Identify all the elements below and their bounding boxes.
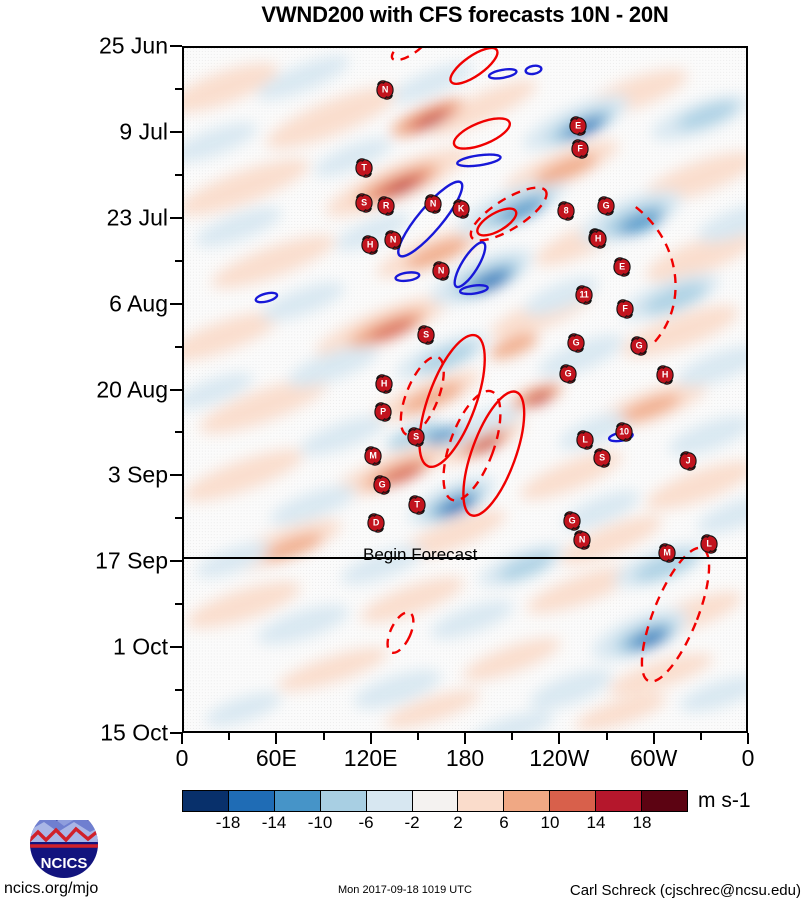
- storm-label: 8: [557, 201, 576, 222]
- storm-symbol: K: [452, 199, 471, 220]
- x-axis-label: 120E: [344, 745, 398, 772]
- colorbar-segment: [457, 791, 503, 811]
- y-axis-label: 15 Oct: [100, 720, 168, 747]
- y-axis-tick: [170, 217, 182, 219]
- y-axis-tick: [170, 389, 182, 391]
- colorbar-tick-label: -14: [262, 813, 287, 833]
- hovmoller-plot: Begin Forecast KelvinERMJOLowContours at…: [182, 46, 748, 733]
- storm-symbol: N: [432, 261, 451, 282]
- storm-symbol: S: [593, 448, 612, 469]
- y-axis-label: 1 Oct: [113, 634, 168, 661]
- storm-label: D: [367, 513, 386, 534]
- colorbar-tick-label: -2: [404, 813, 419, 833]
- storm-symbol: G: [559, 364, 578, 385]
- y-axis-minor-tick: [175, 260, 182, 262]
- storm-label: S: [355, 193, 374, 214]
- x-axis-tick: [370, 733, 372, 744]
- storm-label: P: [374, 402, 393, 423]
- storm-symbol: H: [361, 235, 380, 256]
- y-axis-minor-tick: [175, 431, 182, 433]
- ncics-logo: NCICS: [18, 820, 111, 878]
- x-axis-tick: [275, 733, 277, 744]
- colorbar-tick-label: -18: [216, 813, 241, 833]
- storm-label: 10: [615, 422, 634, 443]
- storm-symbol: E: [613, 257, 632, 278]
- storm-label: H: [656, 365, 675, 386]
- y-axis: 25 Jun9 Jul23 Jul6 Aug20 Aug3 Sep17 Sep1…: [0, 46, 182, 733]
- y-axis-minor-tick: [175, 174, 182, 176]
- storm-label: L: [700, 534, 719, 555]
- storm-symbol: 11: [575, 285, 594, 306]
- colorbar-group: -18-14-10-6-226101418 m s-1: [182, 790, 748, 816]
- x-axis-label: 60W: [630, 745, 677, 772]
- storm-label: S: [593, 448, 612, 469]
- author-credit: Carl Schreck (cjschrec@ncsu.edu): [570, 882, 801, 899]
- storm-symbol: J: [679, 451, 698, 472]
- storm-label: 11: [575, 285, 594, 306]
- y-axis-label: 17 Sep: [95, 548, 168, 575]
- storm-symbol: R: [377, 196, 396, 217]
- x-axis-label: 0: [742, 745, 755, 772]
- y-axis-minor-tick: [175, 88, 182, 90]
- storm-symbol: T: [408, 495, 427, 516]
- y-axis-tick: [170, 303, 182, 305]
- storm-label: H: [375, 374, 394, 395]
- x-axis-tick: [747, 733, 749, 744]
- storm-label: G: [373, 475, 392, 496]
- storm-symbol: H: [375, 374, 394, 395]
- storm-label: G: [597, 196, 616, 217]
- storm-symbol: H: [589, 229, 608, 250]
- storm-label: G: [563, 511, 582, 532]
- storm-label: F: [571, 139, 590, 160]
- storm-symbol: 10: [615, 422, 634, 443]
- storm-label: K: [452, 199, 471, 220]
- storm-label: E: [569, 116, 588, 137]
- x-axis-minor-tick: [606, 733, 608, 740]
- x-axis-label: 120W: [529, 745, 589, 772]
- colorbar-tick-label: 6: [499, 813, 508, 833]
- x-axis-tick: [464, 733, 466, 744]
- storm-symbol: G: [567, 333, 586, 354]
- y-axis-tick: [170, 474, 182, 476]
- timestamp: Mon 2017-09-18 1019 UTC: [338, 884, 472, 896]
- x-axis: 060E120E180120W60W0: [182, 733, 748, 779]
- colorbar-tick-label: -10: [308, 813, 333, 833]
- x-axis-minor-tick: [511, 733, 513, 740]
- x-axis-tick: [558, 733, 560, 744]
- storm-label: N: [432, 261, 451, 282]
- storm-label: S: [417, 325, 436, 346]
- y-axis-tick: [170, 560, 182, 562]
- storm-symbol: 8: [557, 201, 576, 222]
- y-axis-minor-tick: [175, 346, 182, 348]
- colorbar-segment: [274, 791, 320, 811]
- storm-label: G: [559, 364, 578, 385]
- colorbar-tick-label: 18: [633, 813, 652, 833]
- storm-label: M: [658, 543, 677, 564]
- storm-label: N: [384, 230, 403, 251]
- storm-label: T: [355, 158, 374, 179]
- y-axis-label: 9 Jul: [119, 118, 168, 145]
- vwnd200-anomaly-field: [184, 48, 746, 731]
- storm-symbol: N: [376, 80, 395, 101]
- x-axis-label: 180: [446, 745, 484, 772]
- storm-symbol: S: [355, 193, 374, 214]
- colorbar: [182, 790, 688, 812]
- colorbar-unit-label: m s-1: [698, 789, 751, 813]
- storm-symbol: N: [573, 530, 592, 551]
- colorbar-segment: [228, 791, 274, 811]
- storm-symbol: E: [569, 116, 588, 137]
- colorbar-ticklabels: -18-14-10-6-226101418: [182, 813, 688, 835]
- storm-label: J: [679, 451, 698, 472]
- y-axis-label: 6 Aug: [109, 290, 168, 317]
- colorbar-segment: [412, 791, 458, 811]
- storm-symbol: F: [571, 139, 590, 160]
- colorbar-tick-label: 10: [541, 813, 560, 833]
- storm-symbol: H: [656, 365, 675, 386]
- storm-symbol: N: [424, 194, 443, 215]
- storm-symbol: G: [630, 336, 649, 357]
- storm-label: S: [407, 427, 426, 448]
- storm-symbol: D: [367, 513, 386, 534]
- y-axis-tick: [170, 646, 182, 648]
- x-axis-tick: [181, 733, 183, 744]
- colorbar-tick-label: -6: [358, 813, 373, 833]
- storm-label: G: [567, 333, 586, 354]
- colorbar-segment: [320, 791, 366, 811]
- y-axis-label: 20 Aug: [96, 376, 168, 403]
- colorbar-segment: [503, 791, 549, 811]
- storm-label: H: [589, 229, 608, 250]
- storm-symbol: N: [384, 230, 403, 251]
- storm-label: T: [408, 495, 427, 516]
- y-axis-minor-tick: [175, 603, 182, 605]
- colorbar-segment: [183, 791, 228, 811]
- y-axis-minor-tick: [175, 689, 182, 691]
- colorbar-tick-label: 14: [587, 813, 606, 833]
- y-axis-tick: [170, 45, 182, 47]
- y-axis-label: 25 Jun: [99, 33, 168, 60]
- storm-label: F: [616, 299, 635, 320]
- colorbar-segment: [549, 791, 595, 811]
- x-axis-minor-tick: [228, 733, 230, 740]
- storm-label: R: [377, 196, 396, 217]
- storm-label: M: [364, 446, 383, 467]
- y-axis-label: 3 Sep: [108, 462, 168, 489]
- x-axis-minor-tick: [417, 733, 419, 740]
- storm-symbol: T: [355, 158, 374, 179]
- colorbar-segment: [366, 791, 412, 811]
- storm-label: N: [424, 194, 443, 215]
- storm-symbol: G: [373, 475, 392, 496]
- storm-symbol: S: [407, 427, 426, 448]
- colorbar-tick-label: 2: [453, 813, 462, 833]
- y-axis-tick: [170, 131, 182, 133]
- colorbar-segment: [641, 791, 687, 811]
- storm-label: E: [613, 257, 632, 278]
- logo-text: NCICS: [41, 855, 88, 872]
- storm-label: G: [630, 336, 649, 357]
- x-axis-minor-tick: [323, 733, 325, 740]
- storm-label: H: [361, 235, 380, 256]
- storm-symbol: G: [563, 511, 582, 532]
- storm-label: N: [573, 530, 592, 551]
- x-axis-tick: [653, 733, 655, 744]
- y-axis-label: 23 Jul: [107, 204, 168, 231]
- page-title: VWND200 with CFS forecasts 10N - 20N: [182, 2, 748, 28]
- x-axis-label: 60E: [256, 745, 297, 772]
- begin-forecast-label: Begin Forecast: [360, 545, 480, 565]
- storm-symbol: S: [417, 325, 436, 346]
- storm-symbol: G: [597, 196, 616, 217]
- colorbar-segment: [595, 791, 641, 811]
- storm-symbol: P: [374, 402, 393, 423]
- x-axis-label: 0: [176, 745, 189, 772]
- storm-symbol: M: [364, 446, 383, 467]
- x-axis-minor-tick: [700, 733, 702, 740]
- y-axis-minor-tick: [175, 517, 182, 519]
- site-url[interactable]: ncics.org/mjo: [4, 880, 98, 898]
- storm-symbol: M: [658, 543, 677, 564]
- storm-symbol: F: [616, 299, 635, 320]
- storm-label: N: [376, 80, 395, 101]
- storm-symbol: L: [700, 534, 719, 555]
